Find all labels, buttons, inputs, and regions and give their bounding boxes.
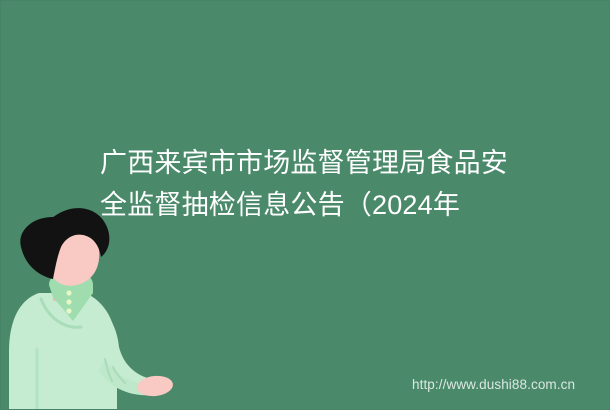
title-line-2: 全监督抽检信息公告（2024年: [100, 184, 520, 226]
button-2: [66, 299, 71, 304]
poster-canvas: 广西来宾市市场监督管理局食品安 全监督抽检信息公告（2024年 http://w…: [0, 0, 610, 410]
shirt-group: [9, 293, 153, 410]
button-1: [66, 290, 71, 295]
person-illustration: [1, 201, 201, 410]
watermark-url: http://www.dushi88.com.cn: [412, 377, 575, 393]
poster-title: 广西来宾市市场监督管理局食品安 全监督抽检信息公告（2024年: [100, 142, 520, 226]
button-3: [66, 308, 71, 313]
title-line-1: 广西来宾市市场监督管理局食品安: [100, 142, 520, 184]
